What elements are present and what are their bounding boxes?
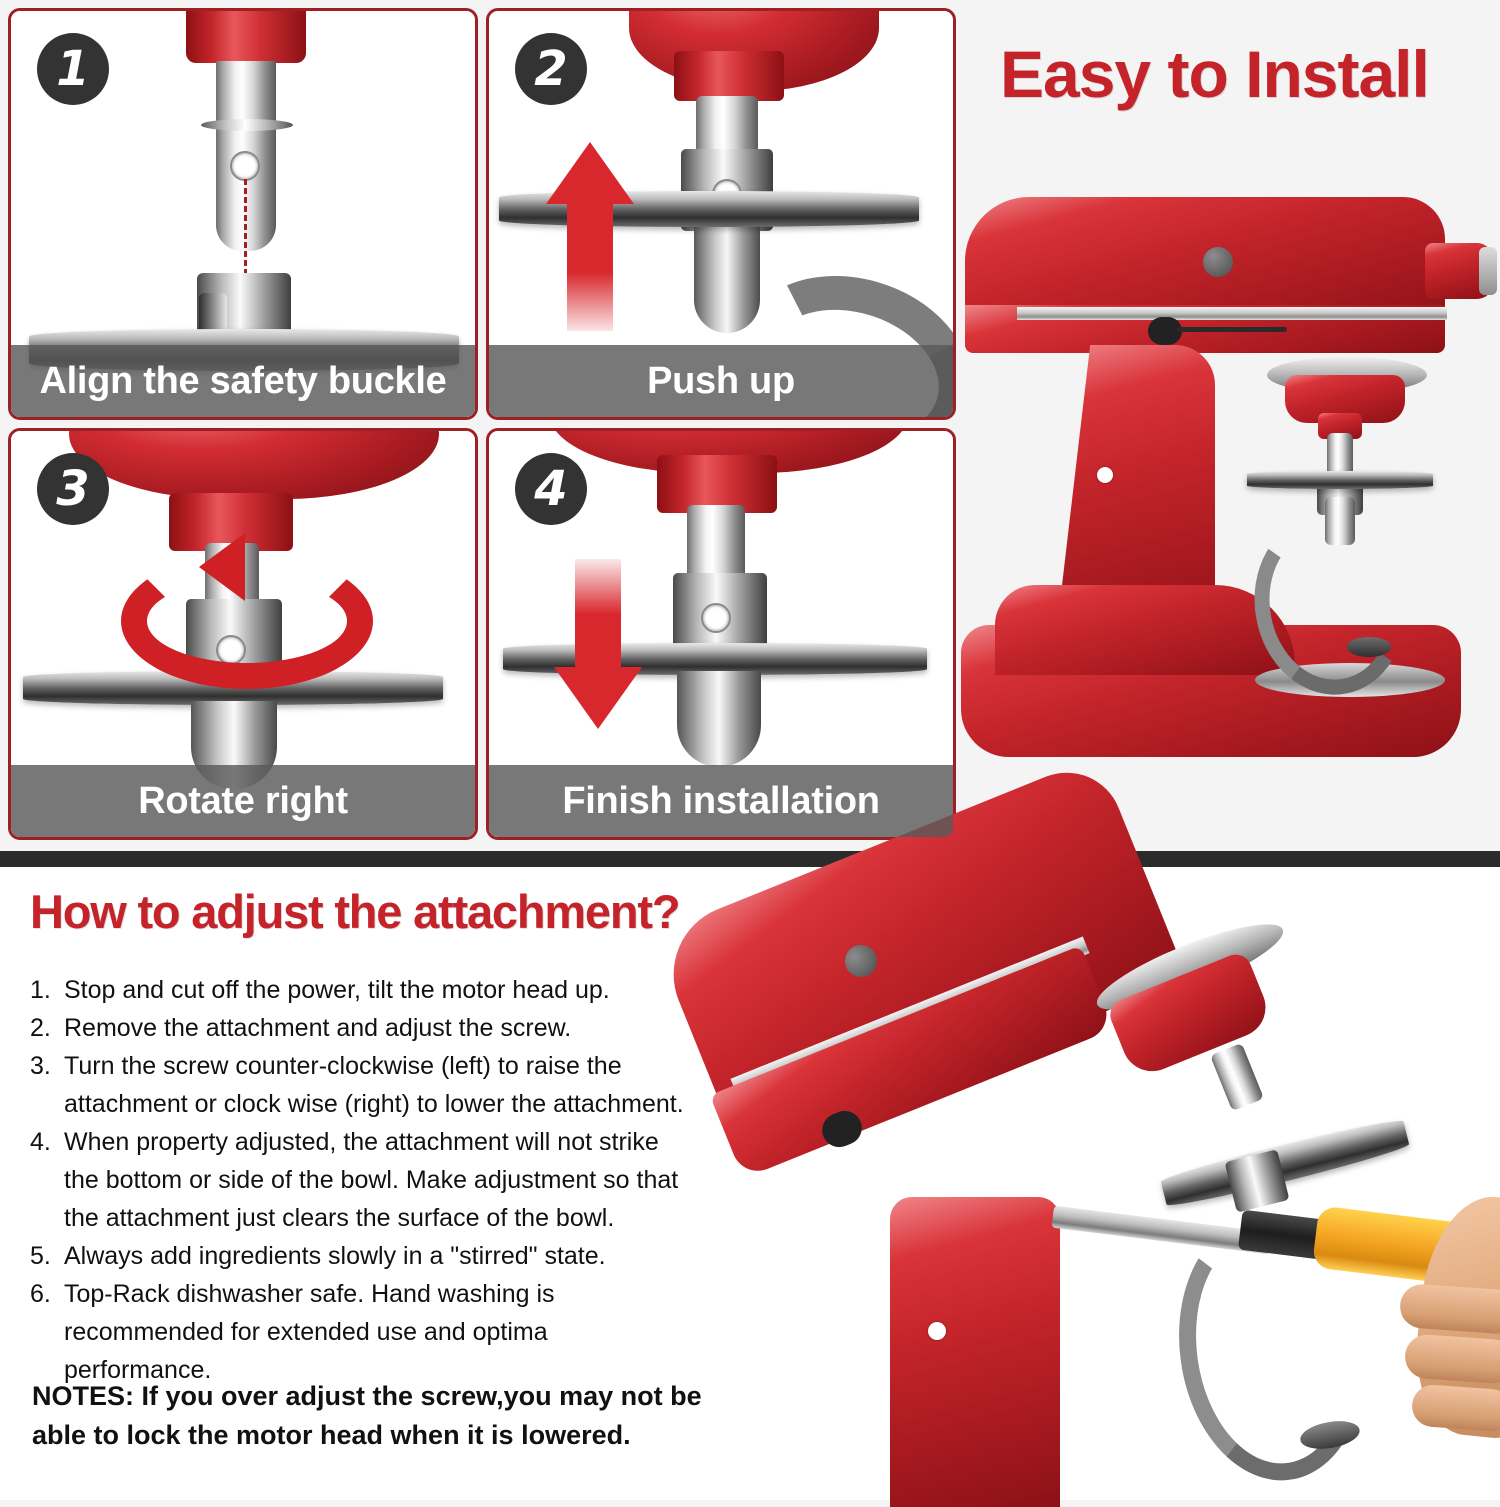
mixer-rear-cap bbox=[1479, 247, 1497, 295]
shaft-collar-shape bbox=[201, 119, 293, 131]
list-item: 5. Always add ingredients slowly in a "s… bbox=[24, 1237, 684, 1275]
red-housing-shape bbox=[69, 431, 439, 499]
step-caption: Align the safety buckle bbox=[11, 345, 475, 417]
adjust-instruction-list: 1. Stop and cut off the power, tilt the … bbox=[24, 971, 684, 1389]
easy-to-install-title: Easy to Install bbox=[1000, 36, 1429, 112]
red-cap-shape bbox=[674, 51, 784, 101]
how-to-adjust-section: How to adjust the attachment? 1. Stop an… bbox=[0, 867, 1500, 1500]
finger-shape bbox=[1411, 1384, 1500, 1433]
list-item-number: 4. bbox=[30, 1123, 51, 1161]
mixer-base-riser bbox=[995, 585, 1295, 675]
coupling-pin-hole bbox=[701, 603, 731, 633]
finger-shape bbox=[1404, 1333, 1500, 1385]
neck-pivot-pin bbox=[1097, 467, 1113, 483]
list-item: 2. Remove the attachment and adjust the … bbox=[24, 1009, 684, 1047]
list-item-number: 5. bbox=[30, 1237, 51, 1275]
how-to-adjust-title: How to adjust the attachment? bbox=[30, 884, 679, 939]
easy-to-install-section: 1 Align the safety buckle 2 Push up bbox=[0, 0, 1500, 851]
step-number-badge: 3 bbox=[37, 453, 109, 525]
list-item-text: When property adjusted, the attachment w… bbox=[64, 1128, 678, 1232]
dough-hook-tip bbox=[1347, 637, 1391, 657]
push-down-arrow-head bbox=[554, 667, 642, 729]
hook-shaft bbox=[1210, 1043, 1264, 1111]
push-up-arrow-head bbox=[546, 142, 634, 204]
push-up-arrow-shaft bbox=[567, 201, 613, 331]
neck-pivot-pin bbox=[928, 1322, 946, 1340]
adjust-mixer-image bbox=[660, 867, 1500, 1500]
install-steps-grid: 1 Align the safety buckle 2 Push up bbox=[8, 8, 956, 840]
step-number-badge: 4 bbox=[515, 453, 587, 525]
list-item: 1. Stop and cut off the power, tilt the … bbox=[24, 971, 684, 1009]
list-item: 6. Top-Rack dishwasher safe. Hand washin… bbox=[24, 1275, 684, 1389]
step-caption: Rotate right bbox=[11, 765, 475, 837]
step-caption: Push up bbox=[489, 345, 953, 417]
list-item-text: Remove the attachment and adjust the scr… bbox=[64, 1014, 571, 1042]
rotate-ring-arrow bbox=[121, 553, 373, 689]
list-item-text: Top-Rack dishwasher safe. Hand washing i… bbox=[64, 1280, 555, 1384]
attachment-shaft-shape bbox=[687, 505, 745, 579]
install-step-card-3: 3 Rotate right bbox=[8, 428, 478, 840]
step-number-badge: 2 bbox=[515, 33, 587, 105]
head-screw-icon bbox=[1203, 247, 1233, 277]
speed-lever-track bbox=[1177, 327, 1287, 332]
list-item-number: 3. bbox=[30, 1047, 51, 1085]
install-step-card-2: 2 Push up bbox=[486, 8, 956, 420]
push-down-arrow-shaft bbox=[575, 559, 621, 669]
stand-mixer-hero-image bbox=[955, 185, 1500, 805]
install-step-card-4: 4 Finish installation bbox=[486, 428, 956, 840]
hook-lower-shape bbox=[677, 671, 761, 767]
notes-text: NOTES: If you over adjust the screw,you … bbox=[32, 1377, 732, 1455]
list-item-text: Always add ingredients slowly in a "stir… bbox=[64, 1242, 606, 1270]
list-item-number: 6. bbox=[30, 1275, 51, 1313]
list-item-number: 1. bbox=[30, 971, 51, 1009]
step-number-badge: 1 bbox=[37, 33, 109, 105]
shaft-pin-hole bbox=[230, 151, 260, 181]
list-item: 3. Turn the screw counter-clockwise (lef… bbox=[24, 1047, 684, 1123]
mixer-neck bbox=[890, 1197, 1060, 1507]
install-step-card-1: 1 Align the safety buckle bbox=[8, 8, 478, 420]
splash-guard-disc bbox=[1247, 471, 1433, 489]
red-cap-shape bbox=[186, 11, 306, 63]
finger-shape bbox=[1399, 1283, 1500, 1335]
mixer-chrome-band bbox=[1017, 307, 1447, 320]
list-item-text: Turn the screw counter-clockwise (left) … bbox=[64, 1052, 684, 1118]
rotate-arrow-head bbox=[199, 533, 245, 601]
section-divider bbox=[0, 851, 1500, 867]
list-item: 4. When property adjusted, the attachmen… bbox=[24, 1123, 684, 1237]
step-caption: Finish installation bbox=[489, 765, 953, 837]
list-item-text: Stop and cut off the power, tilt the mot… bbox=[64, 976, 610, 1004]
list-item-number: 2. bbox=[30, 1009, 51, 1047]
